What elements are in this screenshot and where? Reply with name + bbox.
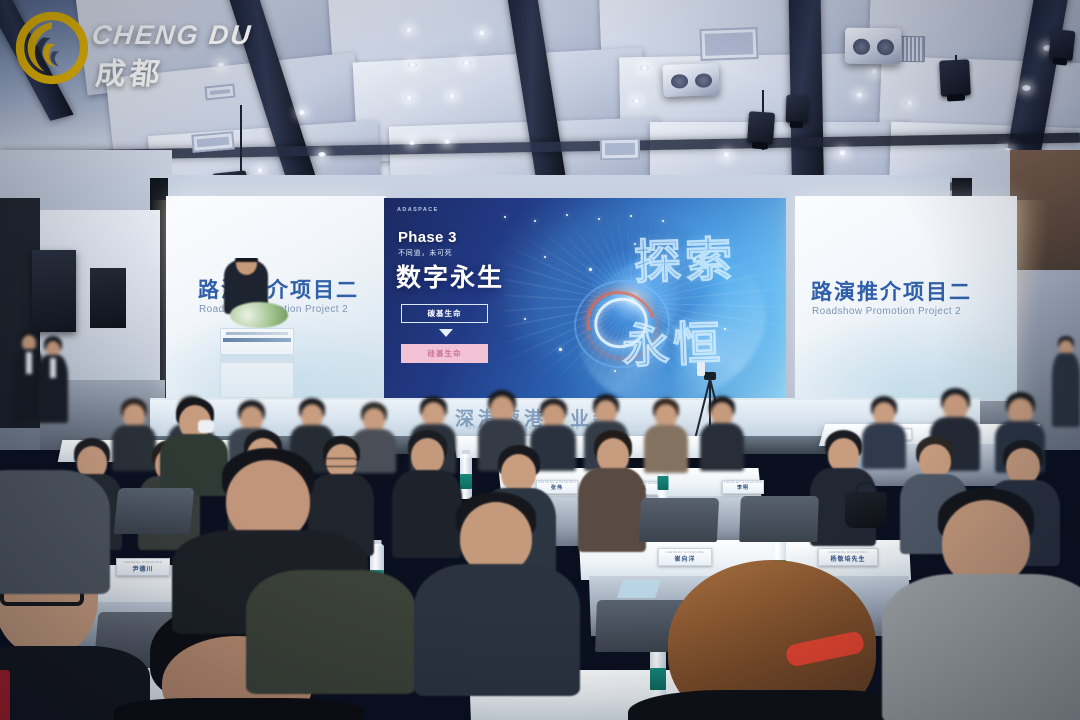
right-projection-screen: 路演推介项目二 Roadshow Promotion Project 2 — [795, 196, 1017, 401]
stage-spotlight — [786, 95, 809, 124]
placard: CHENGDU HONGKONG 李明 — [722, 480, 764, 494]
stage-spotlight — [939, 59, 971, 97]
face-mask — [198, 420, 214, 433]
chair — [639, 498, 719, 542]
foreground-attendee-navy — [420, 492, 570, 692]
foreground-attendee-gray — [890, 488, 1080, 720]
stage-spotlight — [1048, 29, 1075, 61]
sunbird-emblem-icon — [14, 10, 90, 86]
foreground-attendee-olive — [246, 560, 406, 690]
audience-member — [700, 396, 744, 470]
audience-member — [644, 398, 688, 472]
audience-member — [578, 430, 646, 550]
handbag — [845, 492, 887, 528]
led-outline-text-eternal: 永恒 — [621, 304, 725, 377]
ceiling-projector — [662, 63, 719, 97]
ceiling-fixture — [191, 131, 234, 153]
podium-speaker-photo — [206, 258, 298, 398]
ceiling-projector — [845, 28, 902, 65]
led-button-carbon-life[interactable]: 碳基生命 — [401, 304, 488, 323]
stage-spotlight — [747, 111, 775, 145]
chengdu-logo: CHENG DU 成都 — [8, 6, 258, 92]
staff-member — [38, 336, 68, 422]
ceiling-fixture — [600, 138, 640, 161]
lanyard — [0, 670, 10, 720]
led-headline: 数字永生 — [396, 258, 504, 294]
led-phase-label: Phase 3 — [398, 229, 457, 246]
logo-chinese-text: 成都 — [94, 49, 167, 93]
conference-photo: 路演推介项目二 Roadshow Promotion Project 2 — [0, 0, 1080, 720]
chevron-down-icon — [439, 329, 453, 337]
foreground-attendee-woman — [648, 560, 898, 720]
foreground-attendee-left-gray — [0, 440, 100, 590]
led-brand-wordmark: ADASPACE — [397, 207, 439, 213]
chair — [739, 496, 819, 542]
led-outline-text-explore: 探索 — [633, 220, 737, 293]
right-screen-title-en: Roadshow Promotion Project 2 — [812, 306, 961, 317]
led-button-silicon-life[interactable]: 硅基生命 — [401, 344, 488, 363]
left-projection-screen: 路演推介项目二 Roadshow Promotion Project 2 — [166, 196, 386, 401]
led-subtitle: 不同道，未可死 — [398, 248, 453, 258]
ceiling-fixture — [699, 27, 758, 61]
right-screen-title-cn: 路演推介项目二 — [811, 276, 972, 306]
staff-member — [1052, 336, 1080, 426]
logo-english-text: CHENG DU — [90, 20, 253, 51]
